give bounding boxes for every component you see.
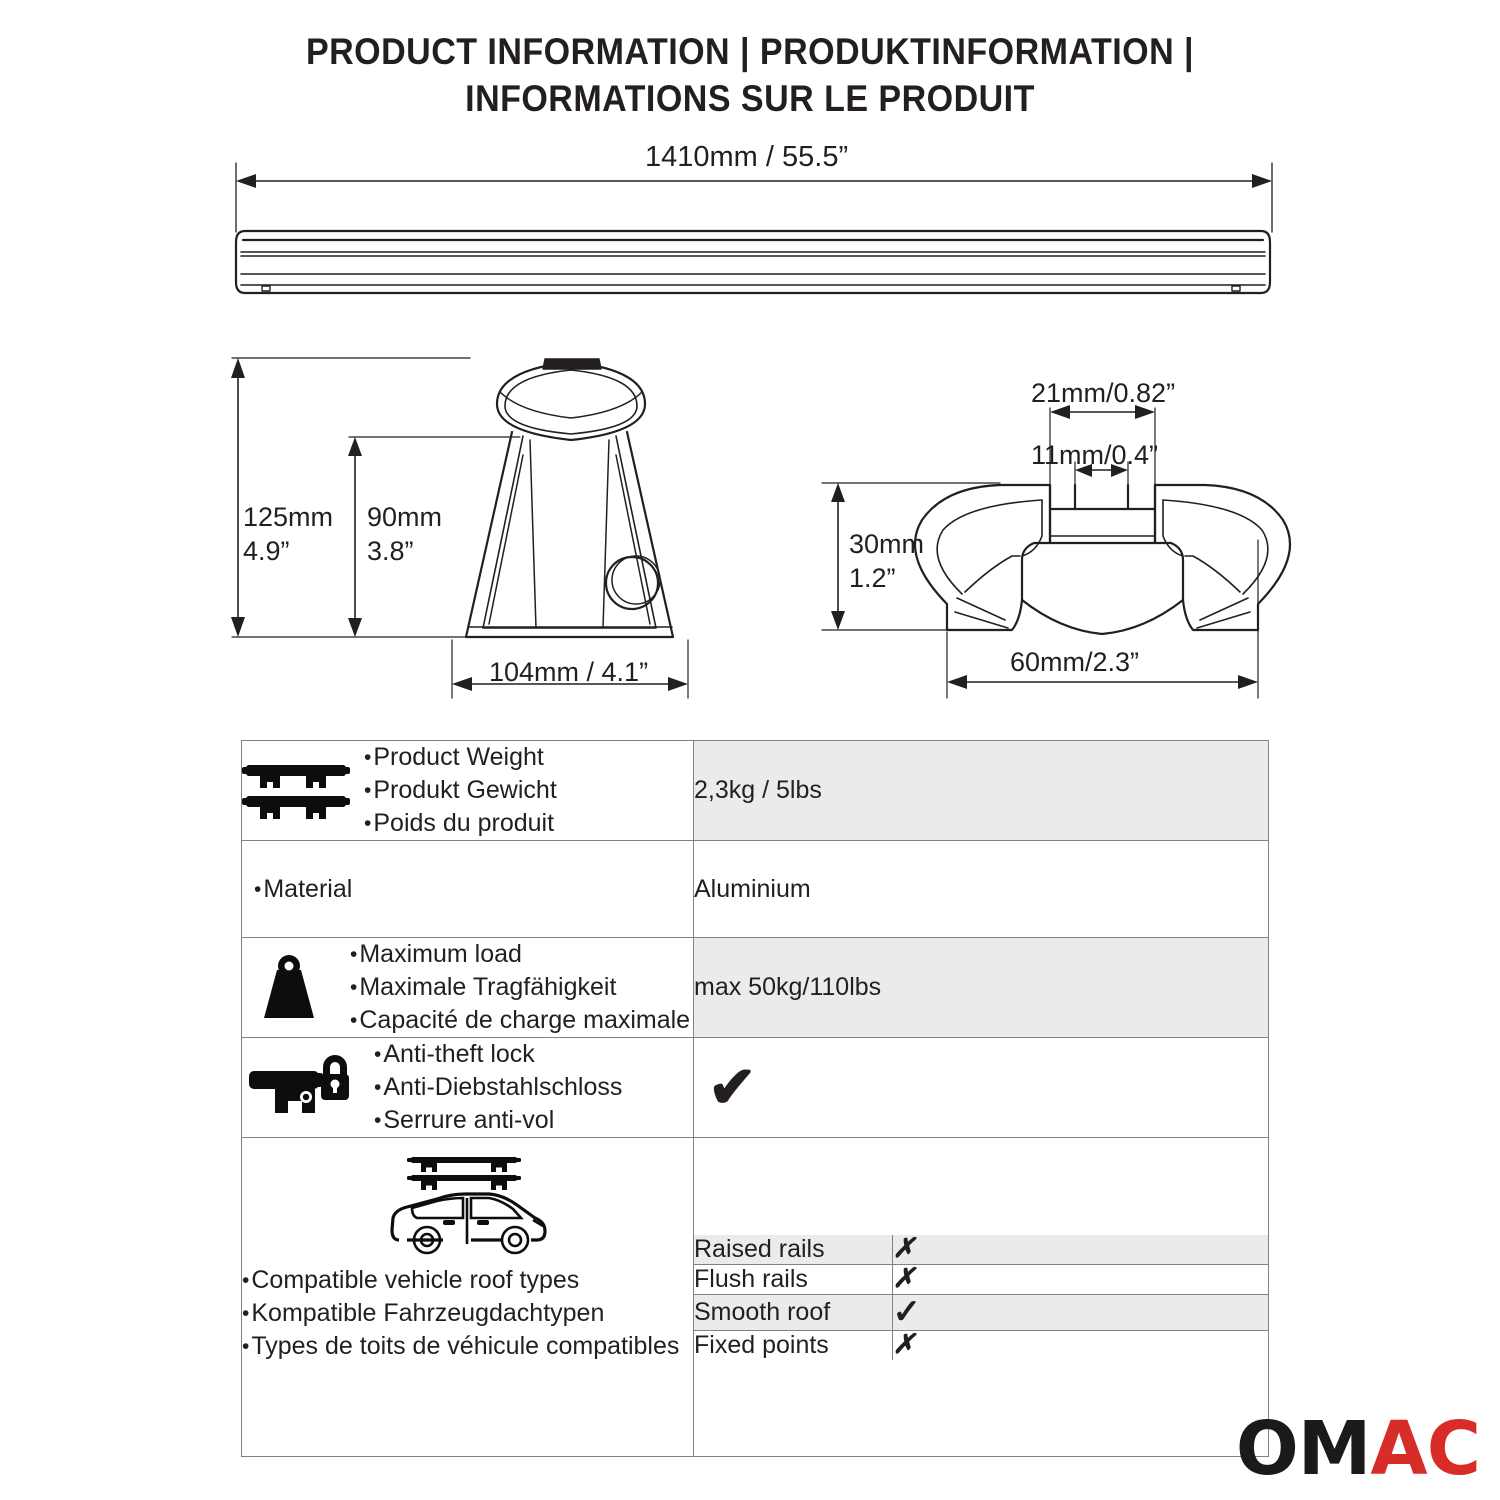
label-line: Anti-theft lock <box>374 1038 622 1071</box>
max-load-labels: Maximum load Maximale Tragfähigkeit Capa… <box>350 938 690 1037</box>
page-title-line-2: INFORMATIONS SUR LE PRODUIT <box>60 75 1440 122</box>
label-line: Anti-Diebstahlschloss <box>374 1071 622 1104</box>
dim-profile-slot-inner: 11mm/0.4” <box>1031 438 1158 472</box>
max-load-label-cell: Maximum load Maximale Tragfähigkeit Capa… <box>242 938 694 1038</box>
label-line: Poids du produit <box>364 807 557 840</box>
dim-foot-width: 104mm / 4.1” <box>489 655 648 689</box>
product-information-sheet: PRODUCT INFORMATION | PRODUKTINFORMATION… <box>0 0 1500 1500</box>
roof-type-row: Smooth roof ✓ <box>694 1294 1268 1330</box>
roof-type-name: Fixed points <box>694 1330 892 1360</box>
page-title: PRODUCT INFORMATION | PRODUKTINFORMATION… <box>60 28 1440 122</box>
anti-theft-check-icon: ✔ <box>694 1059 1268 1117</box>
roof-types-table: Raised rails ✗ Flush rails ✗ <box>694 1235 1268 1360</box>
page-title-line-1: PRODUCT INFORMATION | PRODUKTINFORMATION… <box>60 28 1440 75</box>
omac-logo: OMAC <box>1236 1412 1480 1486</box>
material-label-cell: Material <box>242 841 694 938</box>
cross-icon: ✗ <box>893 1263 916 1293</box>
cross-icon: ✗ <box>893 1329 916 1359</box>
roof-rack-bars-icon <box>242 759 350 823</box>
roof-type-support: ✗ <box>892 1235 1268 1265</box>
roof-type-support: ✓ <box>892 1294 1268 1330</box>
table-row: Material Aluminium <box>242 841 1269 938</box>
weight-icon <box>242 952 336 1024</box>
cross-icon: ✗ <box>893 1233 916 1263</box>
specification-table: Product Weight Produkt Gewicht Poids du … <box>241 740 1269 1457</box>
lock-icon <box>242 1053 360 1123</box>
roof-type-support: ✗ <box>892 1330 1268 1360</box>
check-icon: ✓ <box>893 1293 922 1331</box>
dim-profile-width: 60mm/2.3” <box>1010 645 1139 679</box>
label-line: Compatible vehicle roof types <box>242 1264 693 1297</box>
label-line: Kompatible Fahrzeugdachtypen <box>242 1297 693 1330</box>
logo-dark-text: OM <box>1236 1406 1371 1492</box>
roof-type-name: Flush rails <box>694 1264 892 1294</box>
label-line: Product Weight <box>364 741 557 774</box>
dim-profile-slot-outer: 21mm/0.82” <box>1031 376 1175 410</box>
product-weight-labels: Product Weight Produkt Gewicht Poids du … <box>364 741 557 840</box>
roof-type-name: Smooth roof <box>694 1294 892 1330</box>
product-weight-label-cell: Product Weight Produkt Gewicht Poids du … <box>242 741 694 841</box>
roof-type-row: Raised rails ✗ <box>694 1235 1268 1265</box>
label-line: Maximum load <box>350 938 690 971</box>
roof-types-matrix-cell: Raised rails ✗ Flush rails ✗ <box>694 1138 1269 1457</box>
table-row: Compatible vehicle roof types Kompatible… <box>242 1138 1269 1457</box>
dim-bar-length: 1410mm / 55.5” <box>645 140 848 174</box>
label-line: Capacité de charge maximale <box>350 1004 690 1037</box>
table-row: Product Weight Produkt Gewicht Poids du … <box>242 741 1269 841</box>
label-line: Serrure anti-vol <box>374 1104 622 1137</box>
material-labels: Material <box>242 873 352 906</box>
logo-accent-text: AC <box>1370 1406 1480 1492</box>
roof-types-labels: Compatible vehicle roof types Kompatible… <box>242 1264 693 1363</box>
car-with-rack-icon <box>385 1152 551 1256</box>
dim-foot-height-total: 125mm 4.9” <box>243 500 333 568</box>
table-row: Maximum load Maximale Tragfähigkeit Capa… <box>242 938 1269 1038</box>
roof-type-name: Raised rails <box>694 1235 892 1265</box>
roof-type-row: Fixed points ✗ <box>694 1330 1268 1360</box>
max-load-value: max 50kg/110lbs <box>694 938 1269 1038</box>
anti-theft-value-cell: ✔ <box>694 1038 1269 1138</box>
roof-type-row: Flush rails ✗ <box>694 1264 1268 1294</box>
label-line: Types de toits de véhicule compatibles <box>242 1330 693 1363</box>
label-line: Maximale Tragfähigkeit <box>350 971 690 1004</box>
dim-profile-height: 30mm 1.2” <box>849 527 924 595</box>
anti-theft-labels: Anti-theft lock Anti-Diebstahlschloss Se… <box>374 1038 622 1137</box>
roof-types-label-cell: Compatible vehicle roof types Kompatible… <box>242 1138 694 1457</box>
product-weight-value: 2,3kg / 5lbs <box>694 741 1269 841</box>
dim-foot-height-inner: 90mm 3.8” <box>367 500 442 568</box>
anti-theft-label-cell: Anti-theft lock Anti-Diebstahlschloss Se… <box>242 1038 694 1138</box>
label-line: Produkt Gewicht <box>364 774 557 807</box>
material-value: Aluminium <box>694 841 1269 938</box>
roof-type-support: ✗ <box>892 1264 1268 1294</box>
table-row: Anti-theft lock Anti-Diebstahlschloss Se… <box>242 1038 1269 1138</box>
label-line: Material <box>254 873 352 906</box>
